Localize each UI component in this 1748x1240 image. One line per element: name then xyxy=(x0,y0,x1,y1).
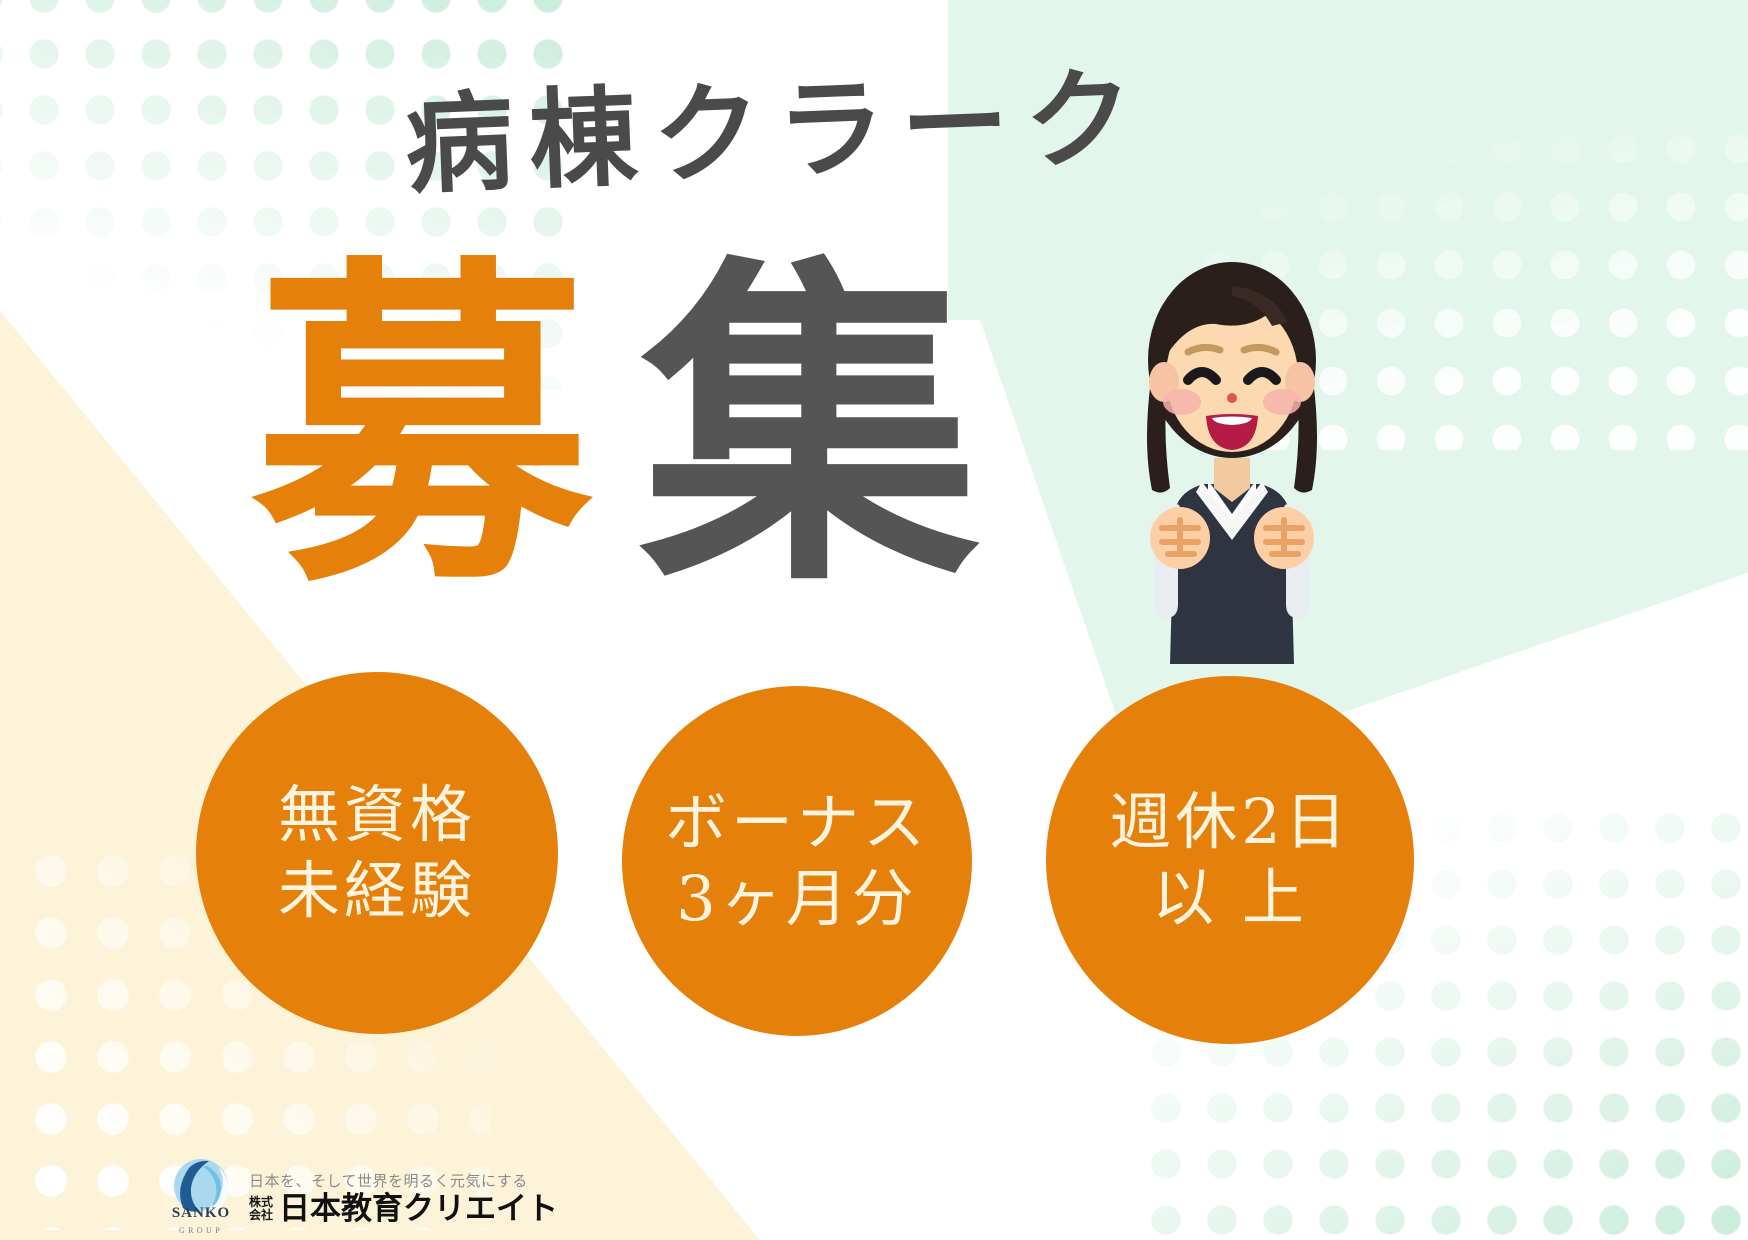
kabushiki-line-1: 株式 xyxy=(249,1196,273,1209)
feature-circle-bonus: ボーナス 3ヶ月分 xyxy=(622,686,972,1036)
main-heading-char-shu: 集 xyxy=(640,268,986,591)
company-name: 日本教育クリエイト xyxy=(279,1194,558,1225)
sanko-group-logo-icon: SANKO GROUP xyxy=(163,1158,239,1236)
feature-circles: 無資格 未経験 ボーナス 3ヶ月分 週休2日 以 上 xyxy=(0,672,1748,1052)
kabushiki-gaisha-prefix: 株式 会社 xyxy=(249,1196,273,1225)
feature-circle-3-line1: 週休2日 xyxy=(1109,784,1350,860)
kabushiki-line-2: 会社 xyxy=(249,1209,273,1222)
company-logo: SANKO GROUP 日本を、そして世界を明るく元気にする 株式 会社 日本教… xyxy=(163,1158,558,1236)
recruitment-banner: 病棟クラーク 募 集 xyxy=(0,0,1748,1240)
feature-circle-no-qualification: 無資格 未経験 xyxy=(196,672,558,1034)
group-wordmark: GROUP xyxy=(163,1226,239,1235)
main-heading-char-bo: 募 xyxy=(252,268,598,591)
logo-text-block: 日本を、そして世界を明るく元気にする 株式 会社 日本教育クリエイト xyxy=(249,1170,558,1225)
job-title: 病棟クラーク xyxy=(403,64,1151,200)
sanko-wordmark: SANKO xyxy=(163,1205,239,1222)
feature-circle-3-line2: 以 上 xyxy=(1152,860,1308,936)
cheering-woman-illustration xyxy=(1096,252,1368,664)
main-heading: 募 集 xyxy=(252,268,986,591)
company-name-row: 株式 会社 日本教育クリエイト xyxy=(249,1194,558,1225)
feature-circle-1-line2: 未経験 xyxy=(278,853,476,929)
feature-circle-weekly-holiday: 週休2日 以 上 xyxy=(1046,676,1414,1044)
feature-circle-1-line1: 無資格 xyxy=(278,777,476,853)
company-tagline: 日本を、そして世界を明るく元気にする xyxy=(249,1170,558,1191)
feature-circle-2-line2: 3ヶ月分 xyxy=(676,861,917,937)
feature-circle-2-line1: ボーナス xyxy=(665,785,929,861)
